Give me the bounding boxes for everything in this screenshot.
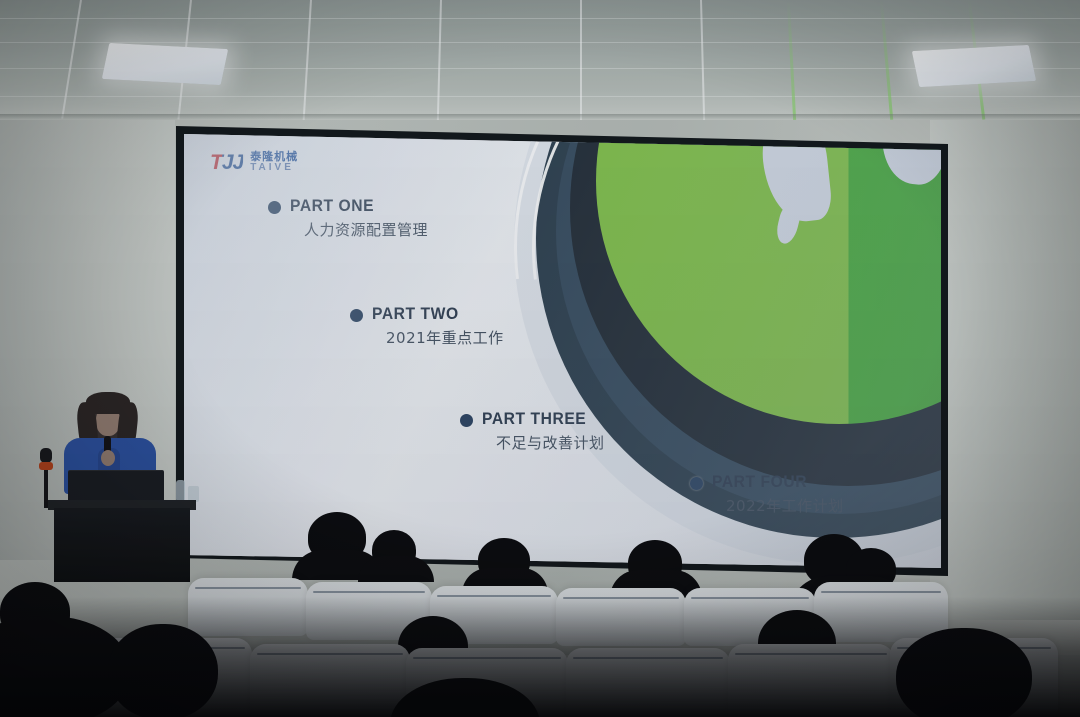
- slide-content: TJJ 泰隆机械 TAIVE PART ONE 人力资源配置管理: [184, 134, 941, 568]
- agenda-item-part-two: PART TWO 2021年重点工作: [350, 304, 504, 348]
- agenda-text-group: PART TWO 2021年重点工作: [372, 304, 504, 348]
- ceiling: [0, 0, 1080, 120]
- screen-display-area: TJJ 泰隆机械 TAIVE PART ONE 人力资源配置管理: [184, 134, 941, 568]
- logo-wordmark: 泰隆机械 TAIVE: [250, 152, 298, 173]
- audience-shoulders: [358, 556, 434, 582]
- presentation-screen[interactable]: TJJ 泰隆机械 TAIVE PART ONE 人力资源配置管理: [176, 126, 948, 576]
- slide-logo: TJJ 泰隆机械 TAIVE: [210, 152, 298, 173]
- water-bottle: [176, 480, 185, 502]
- bullet-dot-icon: [460, 414, 473, 427]
- presenter-hand: [101, 450, 115, 466]
- part-two-subtitle: 2021年重点工作: [386, 327, 504, 348]
- agenda-item-part-three: PART THREE 不足与改善计划: [460, 409, 605, 453]
- audience-head-foreground: [108, 624, 218, 717]
- part-one-subtitle: 人力资源配置管理: [304, 219, 428, 240]
- microphone-icon: [40, 448, 52, 463]
- agenda-text-group: PART ONE 人力资源配置管理: [290, 196, 428, 240]
- audience-seat: [556, 588, 686, 646]
- conference-room-photo: TJJ 泰隆机械 TAIVE PART ONE 人力资源配置管理: [0, 0, 1080, 717]
- bullet-dot-icon: [350, 309, 363, 322]
- microphone-band: [39, 462, 53, 470]
- logo-mark: TJJ: [210, 152, 243, 173]
- part-three-title: PART THREE: [482, 409, 595, 429]
- part-three-subtitle: 不足与改善计划: [496, 432, 605, 453]
- agenda-text-group: PART FOUR 2022年工作计划: [712, 472, 844, 516]
- audience-seat: [250, 644, 410, 717]
- agenda-item-part-one: PART ONE 人力资源配置管理: [268, 196, 428, 240]
- part-one-title: PART ONE: [290, 196, 417, 216]
- agenda-text-group: PART THREE 不足与改善计划: [482, 409, 605, 453]
- ceiling-light-left: [102, 43, 228, 85]
- logo-latin-name: TAIVE: [250, 163, 298, 173]
- audience-seat: [188, 578, 308, 636]
- audience-seat: [728, 644, 894, 717]
- bullet-dot-icon: [268, 201, 281, 214]
- room-shell: TJJ 泰隆机械 TAIVE PART ONE 人力资源配置管理: [0, 0, 1080, 717]
- part-four-subtitle: 2022年工作计划: [726, 495, 844, 516]
- ceiling-wall-joint: [0, 114, 1080, 120]
- audience-seating: [0, 520, 1080, 717]
- part-four-title: PART FOUR: [712, 472, 833, 492]
- agenda-item-part-four: PART FOUR 2022年工作计划: [690, 472, 844, 516]
- part-two-title: PART TWO: [372, 304, 493, 324]
- audience-head-foreground: [896, 628, 1032, 717]
- bullet-dot-icon: [690, 477, 703, 490]
- ceiling-light-right: [912, 45, 1036, 87]
- audience-seat: [566, 648, 730, 717]
- laptop[interactable]: [68, 470, 164, 502]
